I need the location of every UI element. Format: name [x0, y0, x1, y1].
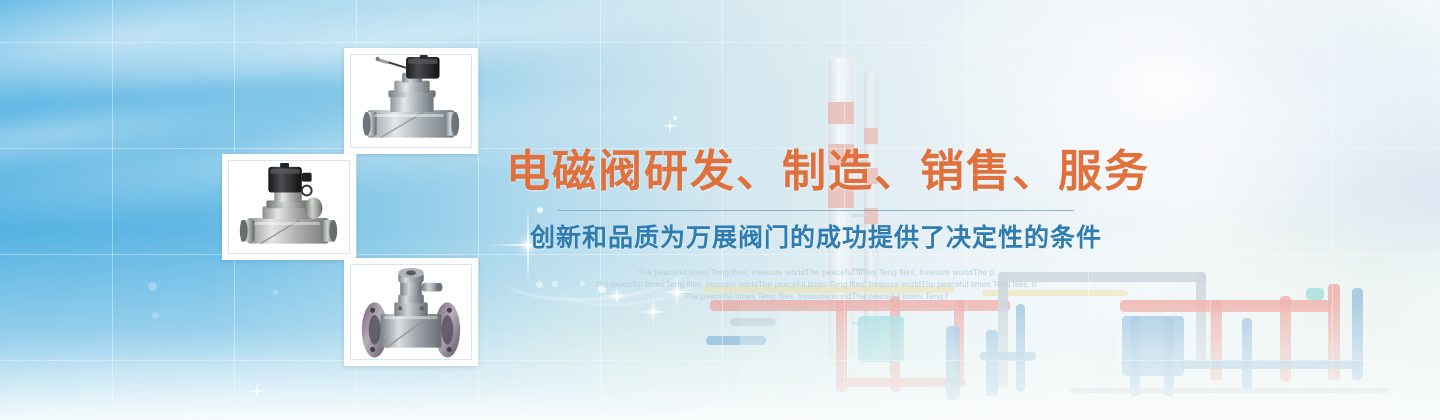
solenoid-valve-threaded-icon [351, 55, 471, 147]
smallprint-line: The peaceful times Teng flies, treasure … [506, 291, 1126, 303]
product-thumbnail-solenoid-valve-flanged[interactable] [344, 258, 478, 366]
thumbnail-frame [350, 264, 472, 360]
product-thumbnail-solenoid-valve-brass[interactable] [222, 154, 356, 260]
smallprint-line: The peaceful times Teng flies, treasure … [506, 279, 1126, 291]
page-subtitle: 创新和品质为万展阀门的成功提供了决定性的条件 [506, 223, 1126, 253]
hero-banner: 电磁阀研发、制造、销售、服务 创新和品质为万展阀门的成功提供了决定性的条件 Th… [0, 0, 1440, 420]
solenoid-valve-brass-icon [229, 161, 349, 253]
smallprint-block: The peaceful times Teng flies, treasure … [506, 267, 1126, 303]
thumbnail-frame [350, 54, 472, 148]
product-thumbnail-solenoid-valve-threaded[interactable] [344, 48, 478, 154]
page-title: 电磁阀研发、制造、销售、服务 [506, 148, 1126, 196]
solenoid-valve-flanged-icon [351, 265, 471, 359]
title-divider [558, 210, 1074, 211]
banner-copy: 电磁阀研发、制造、销售、服务 创新和品质为万展阀门的成功提供了决定性的条件 Th… [506, 148, 1126, 303]
smallprint-line: The peaceful times Teng flies, treasure … [506, 267, 1126, 279]
thumbnail-frame [228, 160, 350, 254]
